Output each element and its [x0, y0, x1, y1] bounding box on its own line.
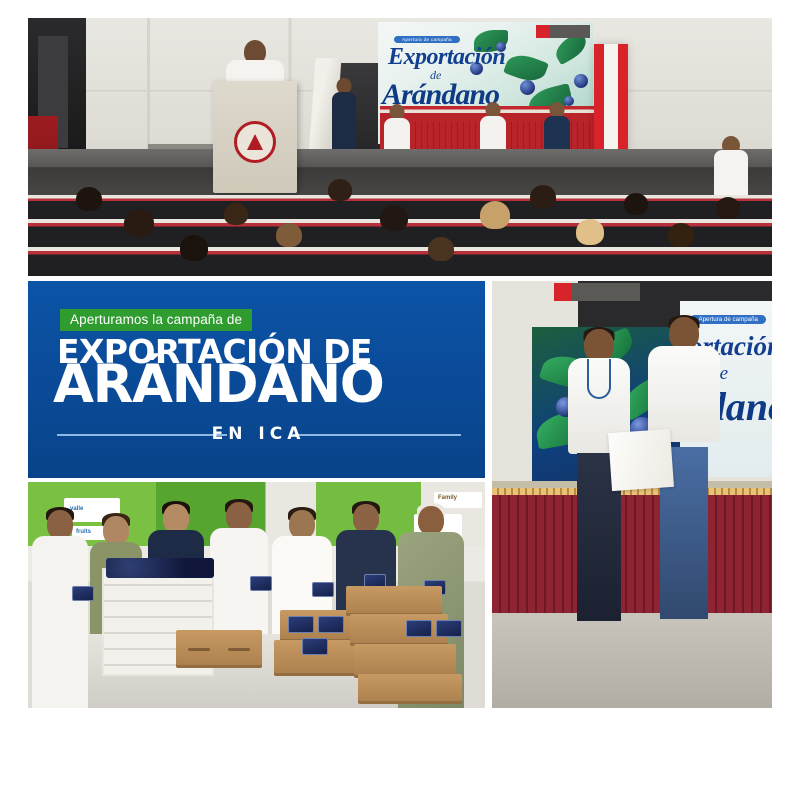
- blueberry-punnet: [302, 638, 328, 655]
- blueberry-punnet: [250, 576, 272, 591]
- campaign-tag: Aperturamos la campaña de: [60, 309, 252, 331]
- panelist: [384, 104, 410, 150]
- group-person: [32, 510, 88, 708]
- banner-title-line1: Exportación: [388, 44, 505, 71]
- podium-emblem-icon: [234, 121, 276, 163]
- blueberry-punnet: [318, 616, 344, 633]
- peru-flag: [594, 44, 628, 162]
- cardboard-box: [358, 674, 462, 704]
- panelist: [544, 102, 570, 150]
- blueberry-punnet: [436, 620, 462, 637]
- cardboard-box: [346, 586, 442, 616]
- title-panel: Aperturamos la campaña de EXPORTACIÓN DE…: [28, 281, 485, 478]
- podium: [213, 81, 297, 193]
- blueberry-punnet: [288, 616, 314, 633]
- floor: [492, 613, 772, 708]
- audience-seating: [28, 193, 772, 276]
- panelist: [480, 102, 506, 150]
- cardboard-box: [350, 614, 448, 646]
- certificate-document: [608, 429, 674, 491]
- standing-attendant: [332, 78, 356, 150]
- seat-row: [28, 247, 772, 276]
- footer-logo-bar: PERÚ Ministerio de Desarrollo Agrario y …: [0, 712, 800, 800]
- social-media-poster: Apertura de campaña Exportación de Aránd…: [0, 0, 800, 800]
- cardboard-box: [354, 644, 456, 678]
- title-line-arandano: ARÁNDANO: [53, 358, 383, 411]
- blueberry-punnet: [312, 582, 334, 597]
- certificate-handover-photo: Apertura de campaña Exportación de Aránd…: [492, 281, 772, 708]
- banner-tag: Apertura de campaña: [394, 36, 460, 43]
- auditorium-presentation-photo: Apertura de campaña Exportación de Aránd…: [28, 18, 772, 276]
- photo-minagri-mark: [554, 283, 640, 301]
- group-blueberry-boxes-photo: valle fruits Family: [28, 482, 485, 708]
- blueberry-punnet: [72, 586, 94, 601]
- brand-sign-text: Family: [438, 495, 457, 501]
- banner-minagri-mark: [536, 25, 590, 38]
- title-line-en-ica: EN ICA: [28, 424, 485, 444]
- blueberry-punnet: [406, 620, 432, 637]
- table-skirt: [492, 495, 772, 613]
